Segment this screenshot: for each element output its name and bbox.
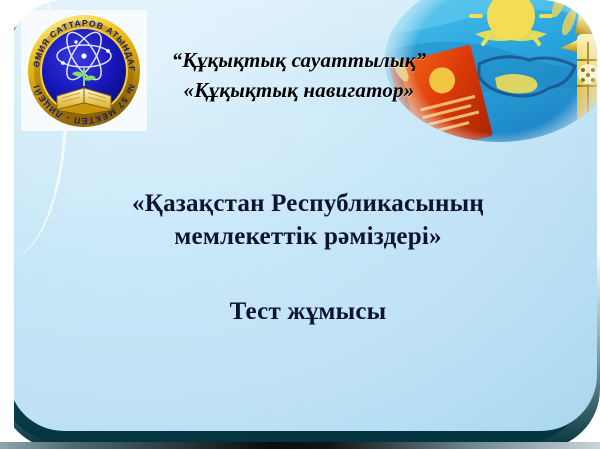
bottom-edge-shadow bbox=[0, 442, 600, 449]
slide-face: СЛӘМИЯ САТТАРОВ АТЫНДАҒЫ № 57 МЕКТЕП - Л… bbox=[8, 0, 597, 431]
school-logo-card: СЛӘМИЯ САТТАРОВ АТЫНДАҒЫ № 57 МЕКТЕП - Л… bbox=[21, 10, 147, 131]
title-line-1: «Қазақстан Республикасының bbox=[68, 188, 548, 221]
header-line-2: «Құқықтық навигатор» bbox=[154, 76, 444, 106]
school-emblem: СЛӘМИЯ САТТАРОВ АТЫНДАҒЫ № 57 МЕКТЕП - Л… bbox=[27, 14, 141, 128]
header-line-1: “Құқықтық сауаттылық” bbox=[154, 46, 444, 76]
header-title: “Құқықтық сауаттылық” «Құқықтық навигато… bbox=[154, 46, 444, 106]
title-line-2: мемлекеттік рәміздері» bbox=[68, 221, 548, 254]
page-title: «Қазақстан Республикасының мемлекеттік р… bbox=[68, 188, 548, 253]
page-subtitle: Тест жұмысы bbox=[68, 298, 548, 326]
presentation-slide: СЛӘМИЯ САТТАРОВ АТЫНДАҒЫ № 57 МЕКТЕП - Л… bbox=[0, 0, 600, 449]
